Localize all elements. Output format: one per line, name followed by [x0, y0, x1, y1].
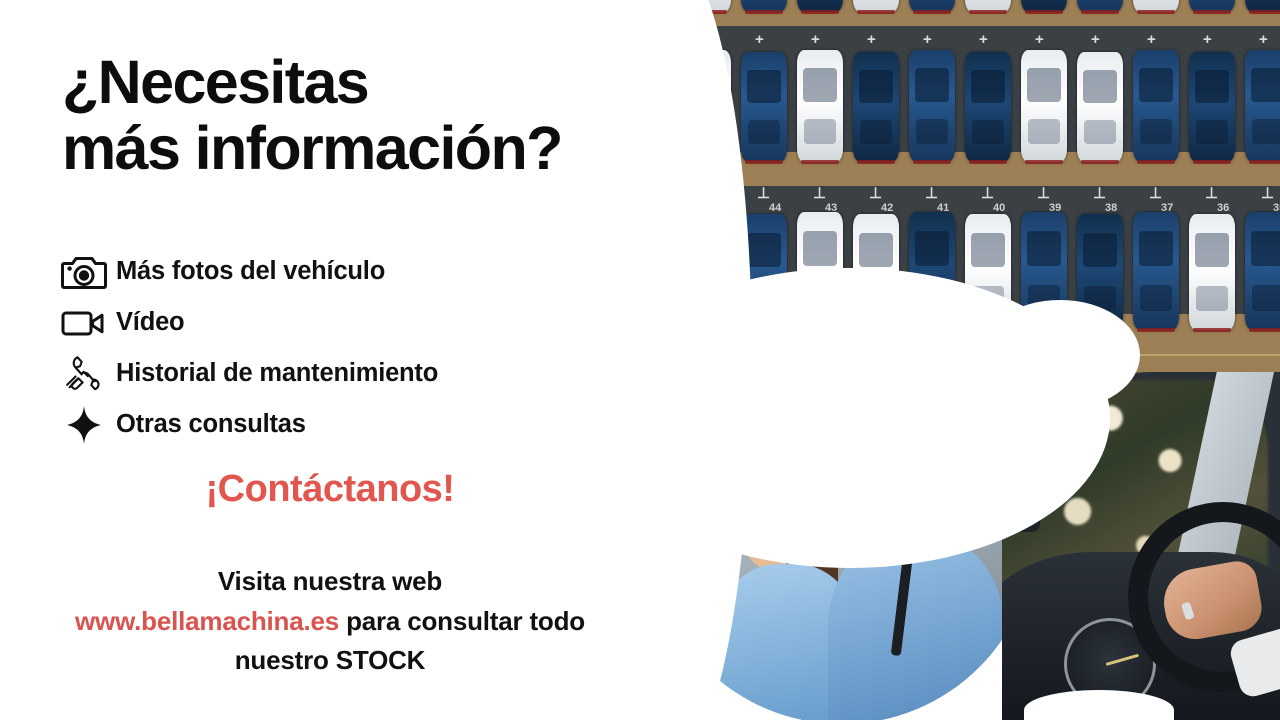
- feature-list: Más fotos del vehículo Vídeo: [52, 246, 672, 450]
- page-title: ¿Necesitas más información?: [62, 50, 682, 182]
- feature-label: Más fotos del vehículo: [116, 257, 385, 286]
- advertisement-canvas: + + + + + + + + + + + + + + +: [0, 0, 1280, 720]
- website-line-2-rest: para consultar todo: [339, 606, 585, 636]
- feature-item-video: Vídeo: [52, 297, 672, 348]
- mask-shape: [980, 300, 1140, 410]
- left-content-column: ¿Necesitas más información? Más fotos de…: [0, 0, 700, 720]
- contact-cta: ¡Contáctanos!: [0, 468, 660, 511]
- website-url[interactable]: www.bellamachina.es: [75, 606, 339, 636]
- headline-line-1: ¿Necesitas: [62, 48, 368, 116]
- feature-item-other-queries: Otras consultas: [52, 399, 672, 450]
- feature-label: Otras consultas: [116, 410, 306, 439]
- contact-cta-text: ¡Contáctanos!: [206, 468, 455, 510]
- headline-line-2: más información?: [62, 116, 682, 182]
- video-camera-icon: [52, 300, 116, 346]
- sparkle-star-icon: [52, 402, 116, 448]
- feature-item-maintenance-history: Historial de mantenimiento: [52, 348, 672, 399]
- website-line-2: www.bellamachina.es para consultar todo: [0, 602, 660, 642]
- website-block: Visita nuestra web www.bellamachina.es p…: [0, 562, 660, 681]
- feature-label: Historial de mantenimiento: [116, 359, 438, 388]
- feature-item-more-photos: Más fotos del vehículo: [52, 246, 672, 297]
- website-line-1: Visita nuestra web: [0, 562, 660, 602]
- website-line-3: nuestro STOCK: [0, 641, 660, 681]
- feature-label: Vídeo: [116, 308, 184, 337]
- camera-icon: [52, 249, 116, 295]
- wrench-hand-icon: [52, 351, 116, 397]
